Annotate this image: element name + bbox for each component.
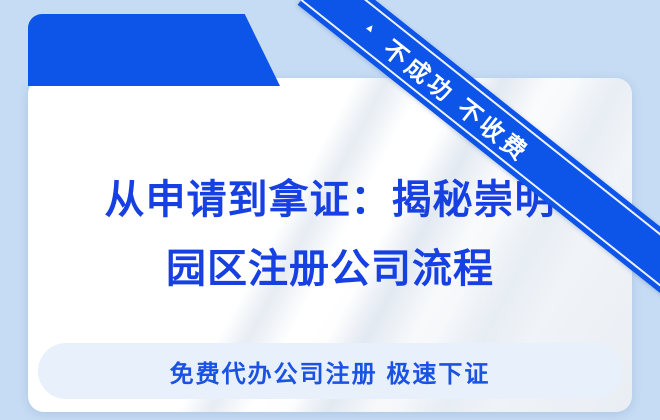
content-card: 从申请到拿证：揭秘崇明 园区注册公司流程 免费代办公司注册 极速下证 [28, 78, 632, 412]
brand-tab [28, 14, 280, 86]
cta-banner[interactable]: 免费代办公司注册 极速下证 [38, 343, 622, 399]
cta-banner-label: 免费代办公司注册 极速下证 [170, 354, 491, 389]
page-title-line-2: 园区注册公司流程 [28, 235, 632, 304]
triangle-up-icon: ▲ [363, 20, 378, 35]
promo-poster: 上海壹隆 从申请到拿证：揭秘崇明 园区注册公司流程 免费代办公司注册 极速下证 … [0, 0, 660, 420]
